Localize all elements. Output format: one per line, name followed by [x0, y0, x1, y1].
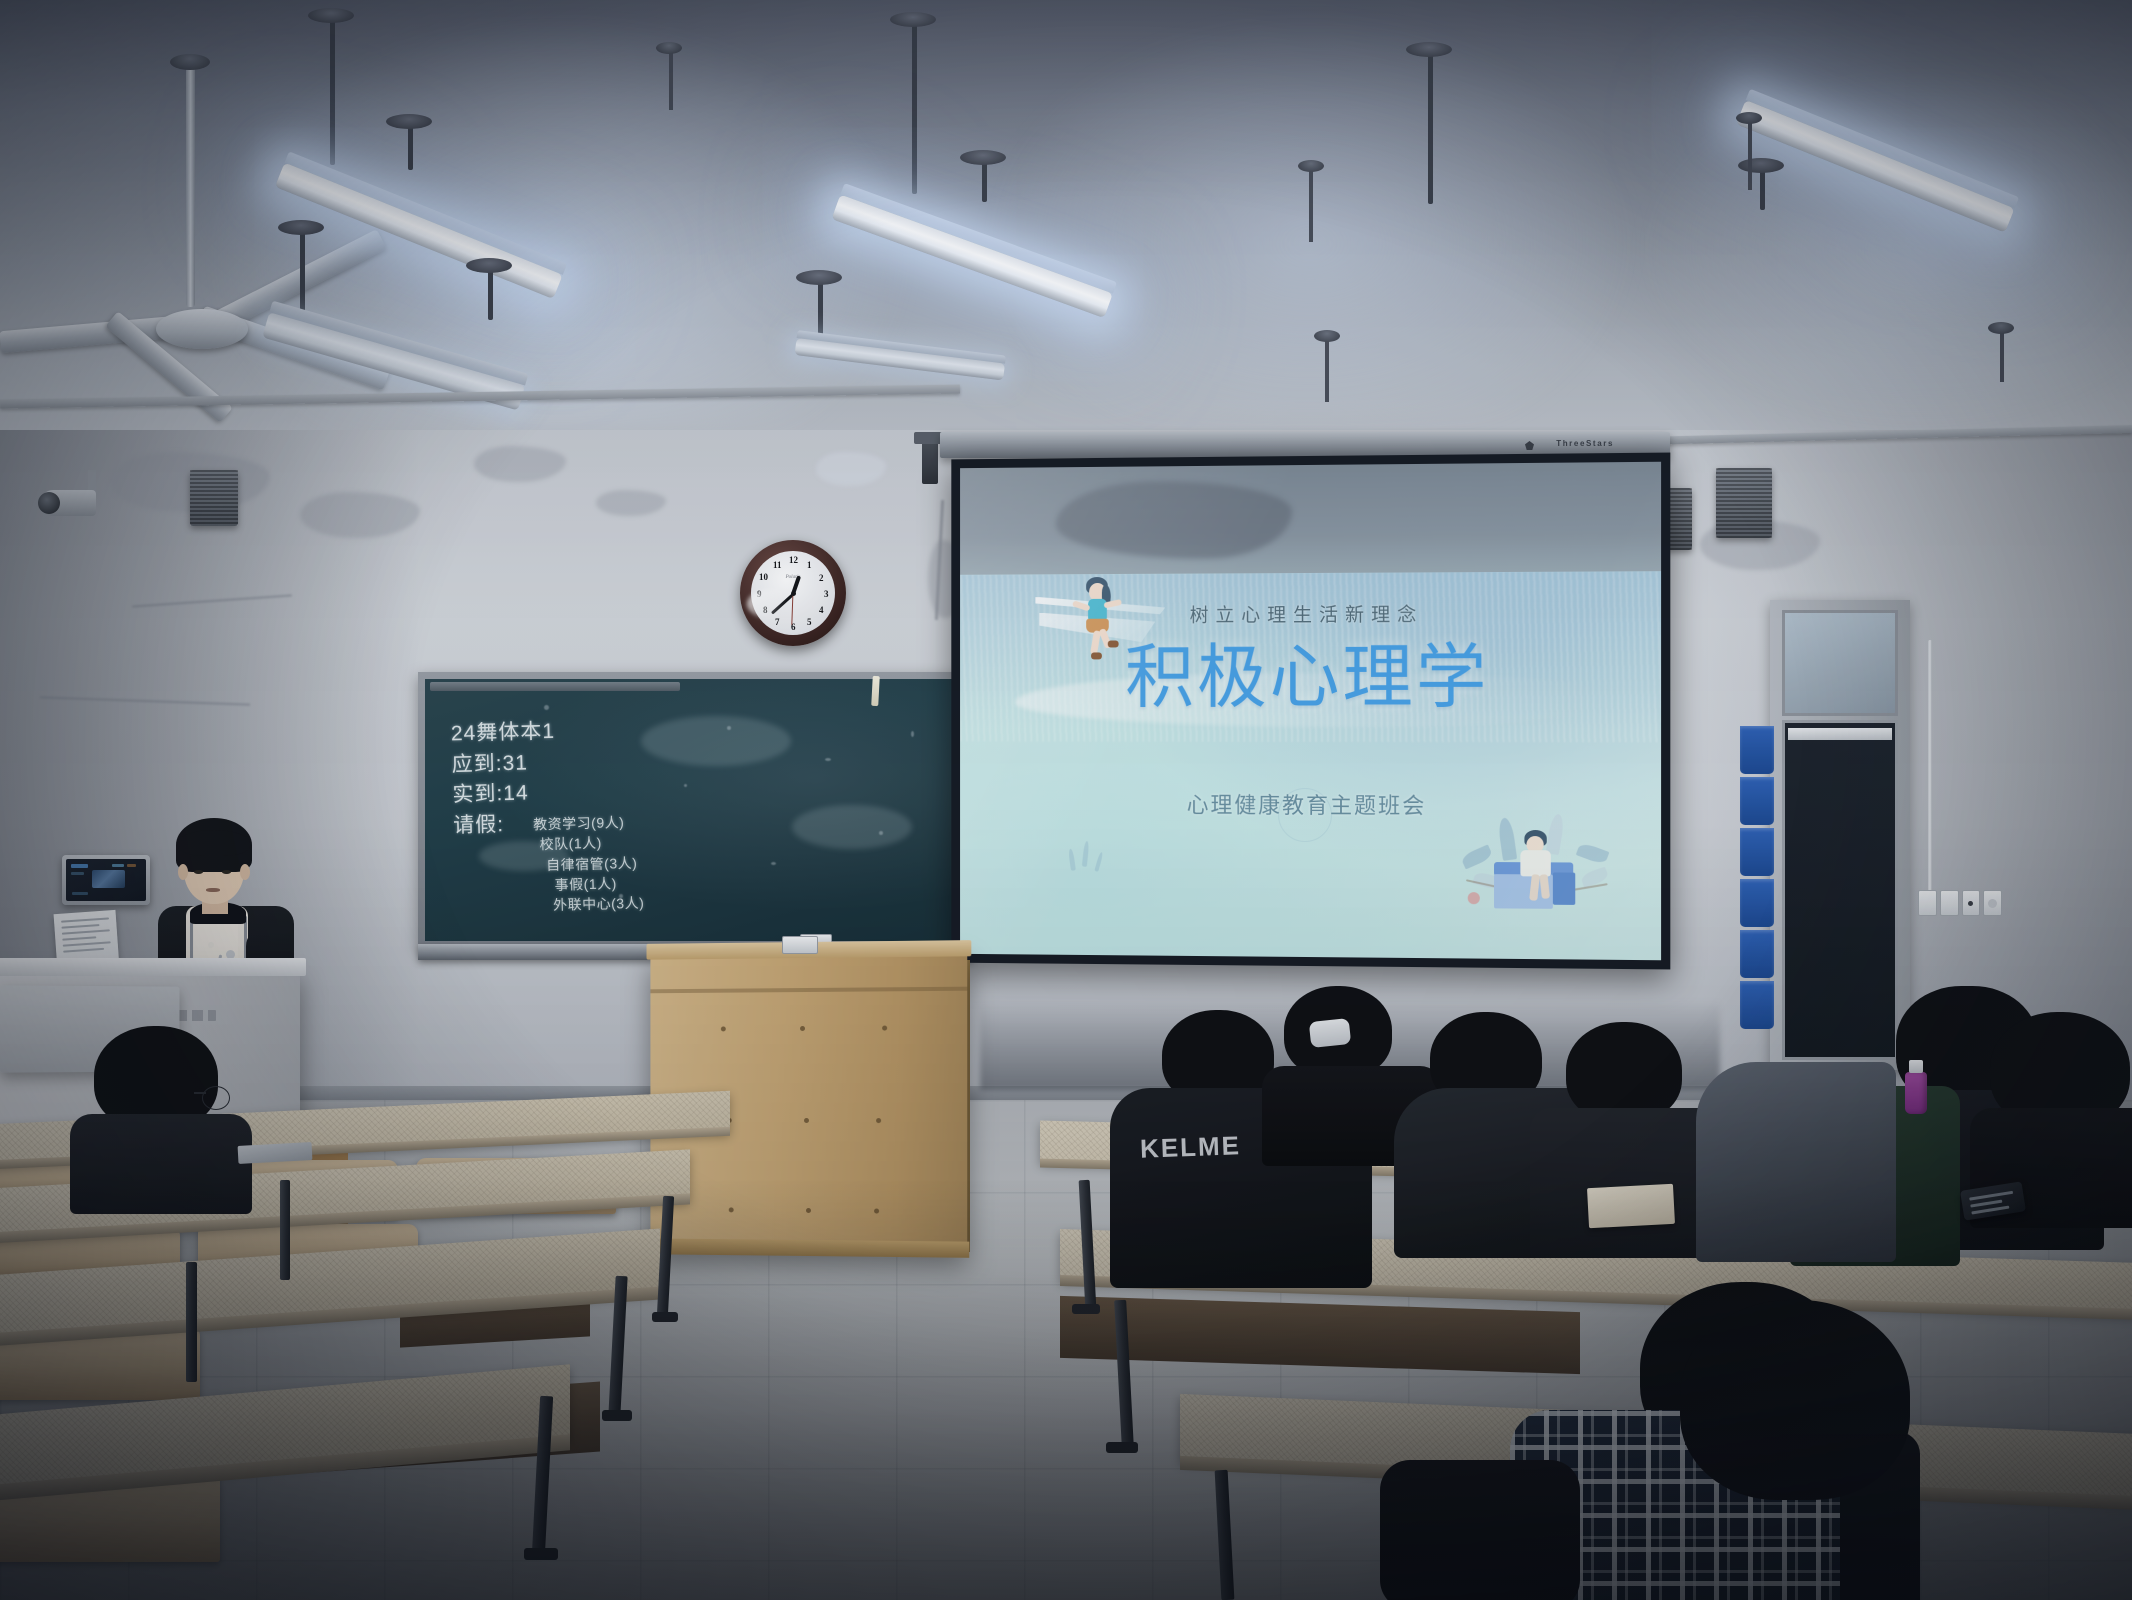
wall-speaker-left: [190, 470, 238, 526]
classroom-scene: Polaris 12 1 2 3 4 5 6 7 8 9 10 11: [0, 0, 2132, 1600]
face-mask: [1309, 1018, 1351, 1048]
student-fur-hood: [1980, 1012, 2132, 1212]
sprinkler-head: [1298, 160, 1324, 172]
box-side: [1553, 873, 1575, 905]
student-body: [1696, 1062, 1896, 1262]
poster-text-line: [63, 948, 104, 953]
lectern-screw: [806, 1208, 811, 1213]
sprinkler-head: [1736, 112, 1762, 124]
slide-eyebrow-text: 树立心理生活新理念: [960, 599, 1661, 629]
poster-text-line: [63, 941, 111, 946]
berry: [1468, 892, 1480, 904]
clock-numeral: 2: [819, 574, 824, 583]
student-body: [70, 1114, 252, 1214]
control-panel-screen[interactable]: [66, 859, 146, 901]
desk-leg-foot: [524, 1548, 558, 1560]
clock-numeral: 7: [775, 618, 780, 627]
projection-screen[interactable]: 树立心理生活新理念 积极心理学 心理健康教育主题班会: [951, 453, 1670, 970]
light-switch[interactable]: [1918, 890, 1937, 916]
podium-top-edge: [0, 958, 306, 976]
presenter-button: [208, 942, 214, 948]
light-switch[interactable]: [1962, 890, 1981, 916]
light-switch[interactable]: [1983, 890, 2002, 916]
desk-row: [0, 1414, 560, 1600]
light-rod-center-b: [982, 160, 987, 202]
switch-indicator-icon: [1988, 899, 1997, 908]
clock-numeral: 10: [759, 573, 768, 582]
sprinkler-stem: [1325, 340, 1329, 402]
light-mount-right-b: [1738, 158, 1784, 173]
presenter-eye-right: [222, 870, 231, 874]
lectern-screw: [876, 1118, 881, 1123]
fan-hub: [156, 309, 248, 349]
organizer-pocket[interactable]: [1740, 828, 1774, 876]
light-rod-left-dim-b: [488, 268, 493, 320]
chalk-line-expected: 应到:31: [451, 745, 641, 780]
brand-diamond-icon: [1525, 441, 1534, 450]
light-mount-right: [1406, 42, 1452, 57]
light-mount-left: [308, 8, 354, 23]
light-rod-right: [1428, 52, 1433, 204]
student: [70, 1026, 250, 1186]
blackboard-notes: 24舞体本1 应到:31 实到:14 请假: 教资学习(9人) 校队(1人) 自…: [451, 715, 645, 918]
light-rod-left-dim: [300, 228, 305, 316]
camera-lens-icon: [38, 492, 60, 514]
presenter-fringe: [178, 830, 250, 856]
organizer-pocket[interactable]: [1740, 981, 1774, 1029]
glasses-lens-right: [202, 1086, 230, 1110]
wall-clock: Polaris 12 1 2 3 4 5 6 7 8 9 10 11: [740, 540, 846, 646]
sprinkler-head: [1314, 330, 1340, 342]
light-rod-right-b: [1760, 168, 1765, 210]
student-arm: [1380, 1460, 1580, 1600]
slide-subtitle: 心理健康教育主题班会: [960, 787, 1661, 821]
sprinkler-stem: [2000, 330, 2004, 382]
panel-blip: [71, 872, 84, 875]
lectern-screw: [882, 1026, 887, 1031]
person-on-box-illustration: [1455, 800, 1618, 952]
wall-pocket-organizer: [1740, 726, 1774, 1026]
presenter-eye-left: [194, 870, 203, 874]
clock-numeral: 4: [819, 606, 824, 615]
door-transom-window: [1782, 610, 1898, 716]
organizer-pocket[interactable]: [1740, 777, 1774, 825]
lectern-screw: [800, 1026, 805, 1031]
chalk-line-class: 24舞体本1: [451, 715, 641, 750]
fan-ceiling-mount: [170, 54, 210, 70]
phone-screen-row: [1969, 1191, 2013, 1201]
desk-leg: [186, 1262, 197, 1382]
clock-numeral: 12: [789, 556, 798, 565]
classroom-door[interactable]: [1782, 720, 1898, 1060]
housing-brand-label: ThreeStars: [1556, 439, 1614, 448]
bottle-cap[interactable]: [1909, 1060, 1923, 1073]
grass-doodle: [1095, 852, 1104, 872]
clock-numeral: 1: [807, 561, 812, 570]
lectern-screw: [874, 1209, 879, 1214]
organizer-pocket[interactable]: [1740, 930, 1774, 978]
phone-screen-row: [1971, 1206, 2009, 1215]
wall-control-panel[interactable]: [62, 855, 150, 905]
leaf-tall: [1497, 817, 1517, 861]
light-rod-left: [330, 20, 335, 165]
bottle-body: [1905, 1072, 1927, 1114]
presenter-ear-left: [178, 864, 188, 880]
lectern-screw: [721, 1026, 726, 1031]
kelme-brand-label: KELME: [1139, 1130, 1241, 1165]
sprinkler-stem: [669, 50, 673, 110]
presenter-mouth: [206, 888, 220, 892]
panel-blip: [112, 864, 123, 867]
drink-bottle[interactable]: [1905, 1060, 1927, 1114]
poster-text-line: [62, 929, 110, 934]
light-switch-panel[interactable]: [1918, 890, 2002, 916]
blackboard-frame: 24舞体本1 应到:31 实到:14 请假: 教资学习(9人) 校队(1人) 自…: [418, 672, 972, 948]
chalk-line-actual: 实到:14: [452, 776, 642, 811]
wall-speaker-right-2: [1716, 468, 1772, 538]
clock-numeral: 5: [807, 618, 812, 627]
light-mount-center: [890, 12, 936, 27]
wall-conduit: [1928, 640, 1932, 892]
clock-bezel: Polaris 12 1 2 3 4 5 6 7 8 9 10 11: [740, 540, 846, 646]
poster-text-line: [61, 924, 99, 929]
light-mount-left-b: [386, 114, 432, 129]
desk-leg-foot: [652, 1312, 678, 1322]
clock-numeral: 11: [773, 561, 782, 570]
blackboard-slider-rail[interactable]: [430, 682, 680, 691]
slide-title: 积极心理学: [960, 641, 1661, 712]
lectern-paper-clip[interactable]: [782, 936, 818, 954]
light-rod-left-b: [408, 124, 413, 170]
sprinkler-head: [1988, 322, 2014, 334]
student-grey-coat: [1696, 1062, 1896, 1262]
panel-blip: [72, 892, 88, 895]
poster-text-line: [61, 917, 109, 922]
door-push-plate[interactable]: [1788, 728, 1892, 740]
panel-blip: [127, 864, 137, 867]
switch-indicator-icon: [1968, 901, 1973, 906]
desk-leg: [280, 1180, 290, 1280]
student-head: [1566, 1022, 1682, 1122]
clock-glass-glare: [747, 589, 799, 619]
projector-mount: [922, 440, 938, 484]
light-mount-center-b: [960, 150, 1006, 165]
organizer-pocket[interactable]: [1740, 879, 1774, 927]
desk-leg-foot: [1072, 1304, 1100, 1314]
blackboard: 24舞体本1 应到:31 实到:14 请假: 教资学习(9人) 校队(1人) 自…: [425, 679, 965, 941]
sprinkler-stem: [1748, 120, 1752, 190]
glasses-bridge: [194, 1092, 206, 1094]
projection-surface: 树立心理生活新理念 积极心理学 心理健康教育主题班会: [960, 462, 1661, 961]
clock-numeral: 3: [824, 590, 829, 599]
organizer-pocket[interactable]: [1740, 726, 1774, 774]
chalk-leave-item: 外联中心(3人): [455, 893, 645, 918]
fan-rod: [186, 62, 195, 307]
grass-doodle: [1068, 848, 1076, 870]
student-head: [1680, 1300, 1910, 1500]
sprinkler-stem: [1309, 170, 1313, 242]
person-body: [1520, 850, 1550, 876]
grass-doodle: [1082, 841, 1090, 867]
light-switch[interactable]: [1940, 890, 1959, 916]
panel-thumbnail: [92, 870, 126, 888]
presenter-ear-right: [240, 864, 250, 880]
desk-leg-foot: [602, 1410, 632, 1421]
panel-blip: [71, 864, 89, 868]
sprinkler-head: [656, 42, 682, 54]
student-plaid: [1380, 1340, 1900, 1600]
leaf: [1576, 842, 1610, 866]
leaf: [1460, 845, 1493, 870]
slide-content: 树立心理生活新理念 积极心理学 心理健康教育主题班会: [960, 571, 1661, 960]
light-mount-left-dim: [278, 220, 324, 235]
light-rod-center: [912, 22, 917, 194]
desk-leg-foot: [1106, 1442, 1138, 1453]
clock-face: Polaris 12 1 2 3 4 5 6 7 8 9 10 11: [751, 551, 835, 635]
light-mount-left-dim-b: [466, 258, 512, 273]
light-mount-center-dim: [796, 270, 842, 285]
ceiling-glow-right: [1620, 60, 2132, 440]
light-rod-center-dim: [818, 278, 823, 340]
poster-text-line: [62, 936, 96, 940]
lectern-band: [650, 987, 967, 994]
lectern-screw: [804, 1118, 809, 1123]
open-notebook[interactable]: [1587, 1184, 1675, 1228]
